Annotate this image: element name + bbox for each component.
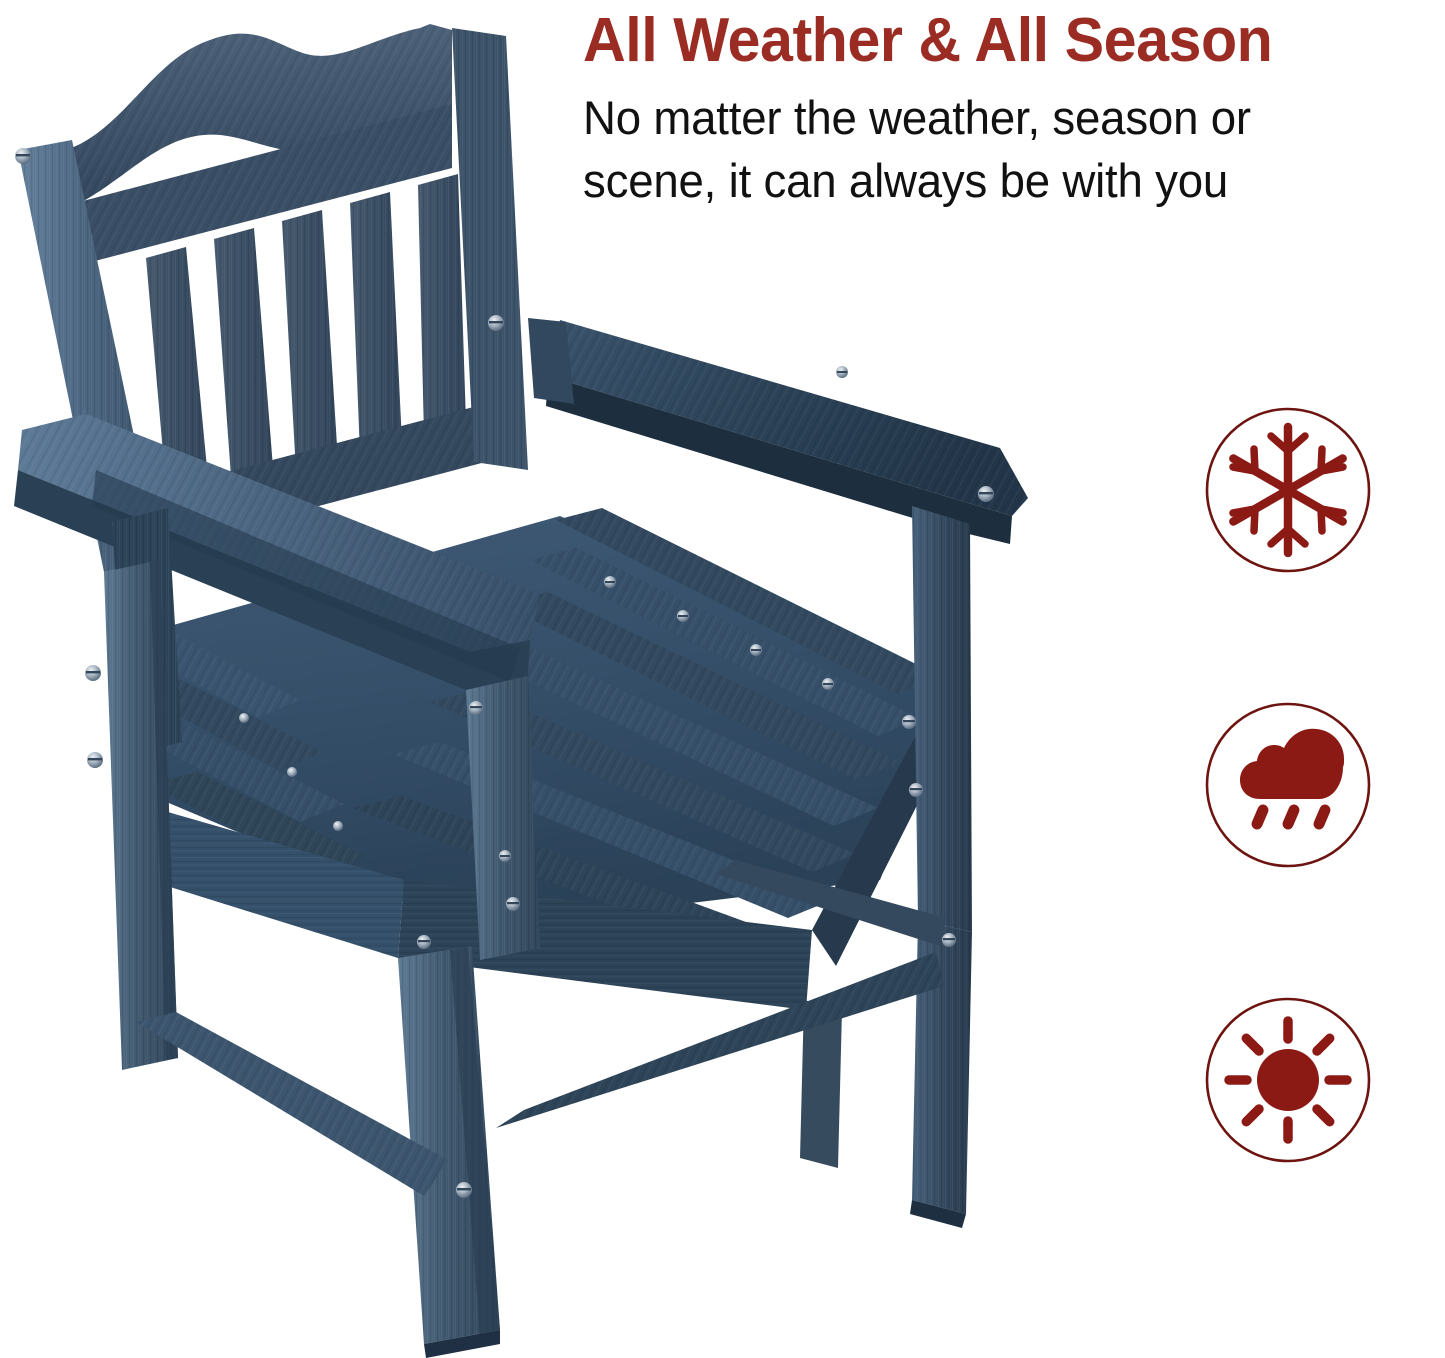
screw xyxy=(488,315,504,331)
subheadline-line-1: No matter the weather, season or xyxy=(583,86,1419,149)
screw xyxy=(333,821,343,831)
screw xyxy=(87,752,103,768)
screw xyxy=(456,1182,472,1198)
screw xyxy=(750,644,762,656)
screw xyxy=(506,897,520,911)
headline: All Weather & All Season xyxy=(583,4,1406,78)
screw xyxy=(499,850,511,862)
sun-icon xyxy=(1203,995,1373,1165)
screw xyxy=(677,610,689,622)
screw xyxy=(15,148,31,164)
screw xyxy=(909,783,923,797)
screw xyxy=(604,576,616,588)
screw xyxy=(836,366,848,378)
screw xyxy=(469,701,483,715)
screw xyxy=(978,486,994,502)
marketing-copy: All Weather & All Season No matter the w… xyxy=(583,4,1445,212)
screw xyxy=(902,715,916,729)
subheadline-line-2: scene, it can always be with you xyxy=(583,149,1419,212)
screw xyxy=(85,665,101,681)
screw xyxy=(822,678,834,690)
rain-cloud-icon xyxy=(1203,700,1373,870)
snowflake-icon xyxy=(1203,405,1373,575)
screw xyxy=(942,933,956,947)
subheadline: No matter the weather, season or scene, … xyxy=(583,86,1419,212)
screw xyxy=(239,713,249,723)
screw xyxy=(417,935,431,949)
feature-badge-list xyxy=(1203,405,1373,1165)
screw xyxy=(287,767,297,777)
marketing-image-canvas: All Weather & All Season No matter the w… xyxy=(0,0,1445,1358)
